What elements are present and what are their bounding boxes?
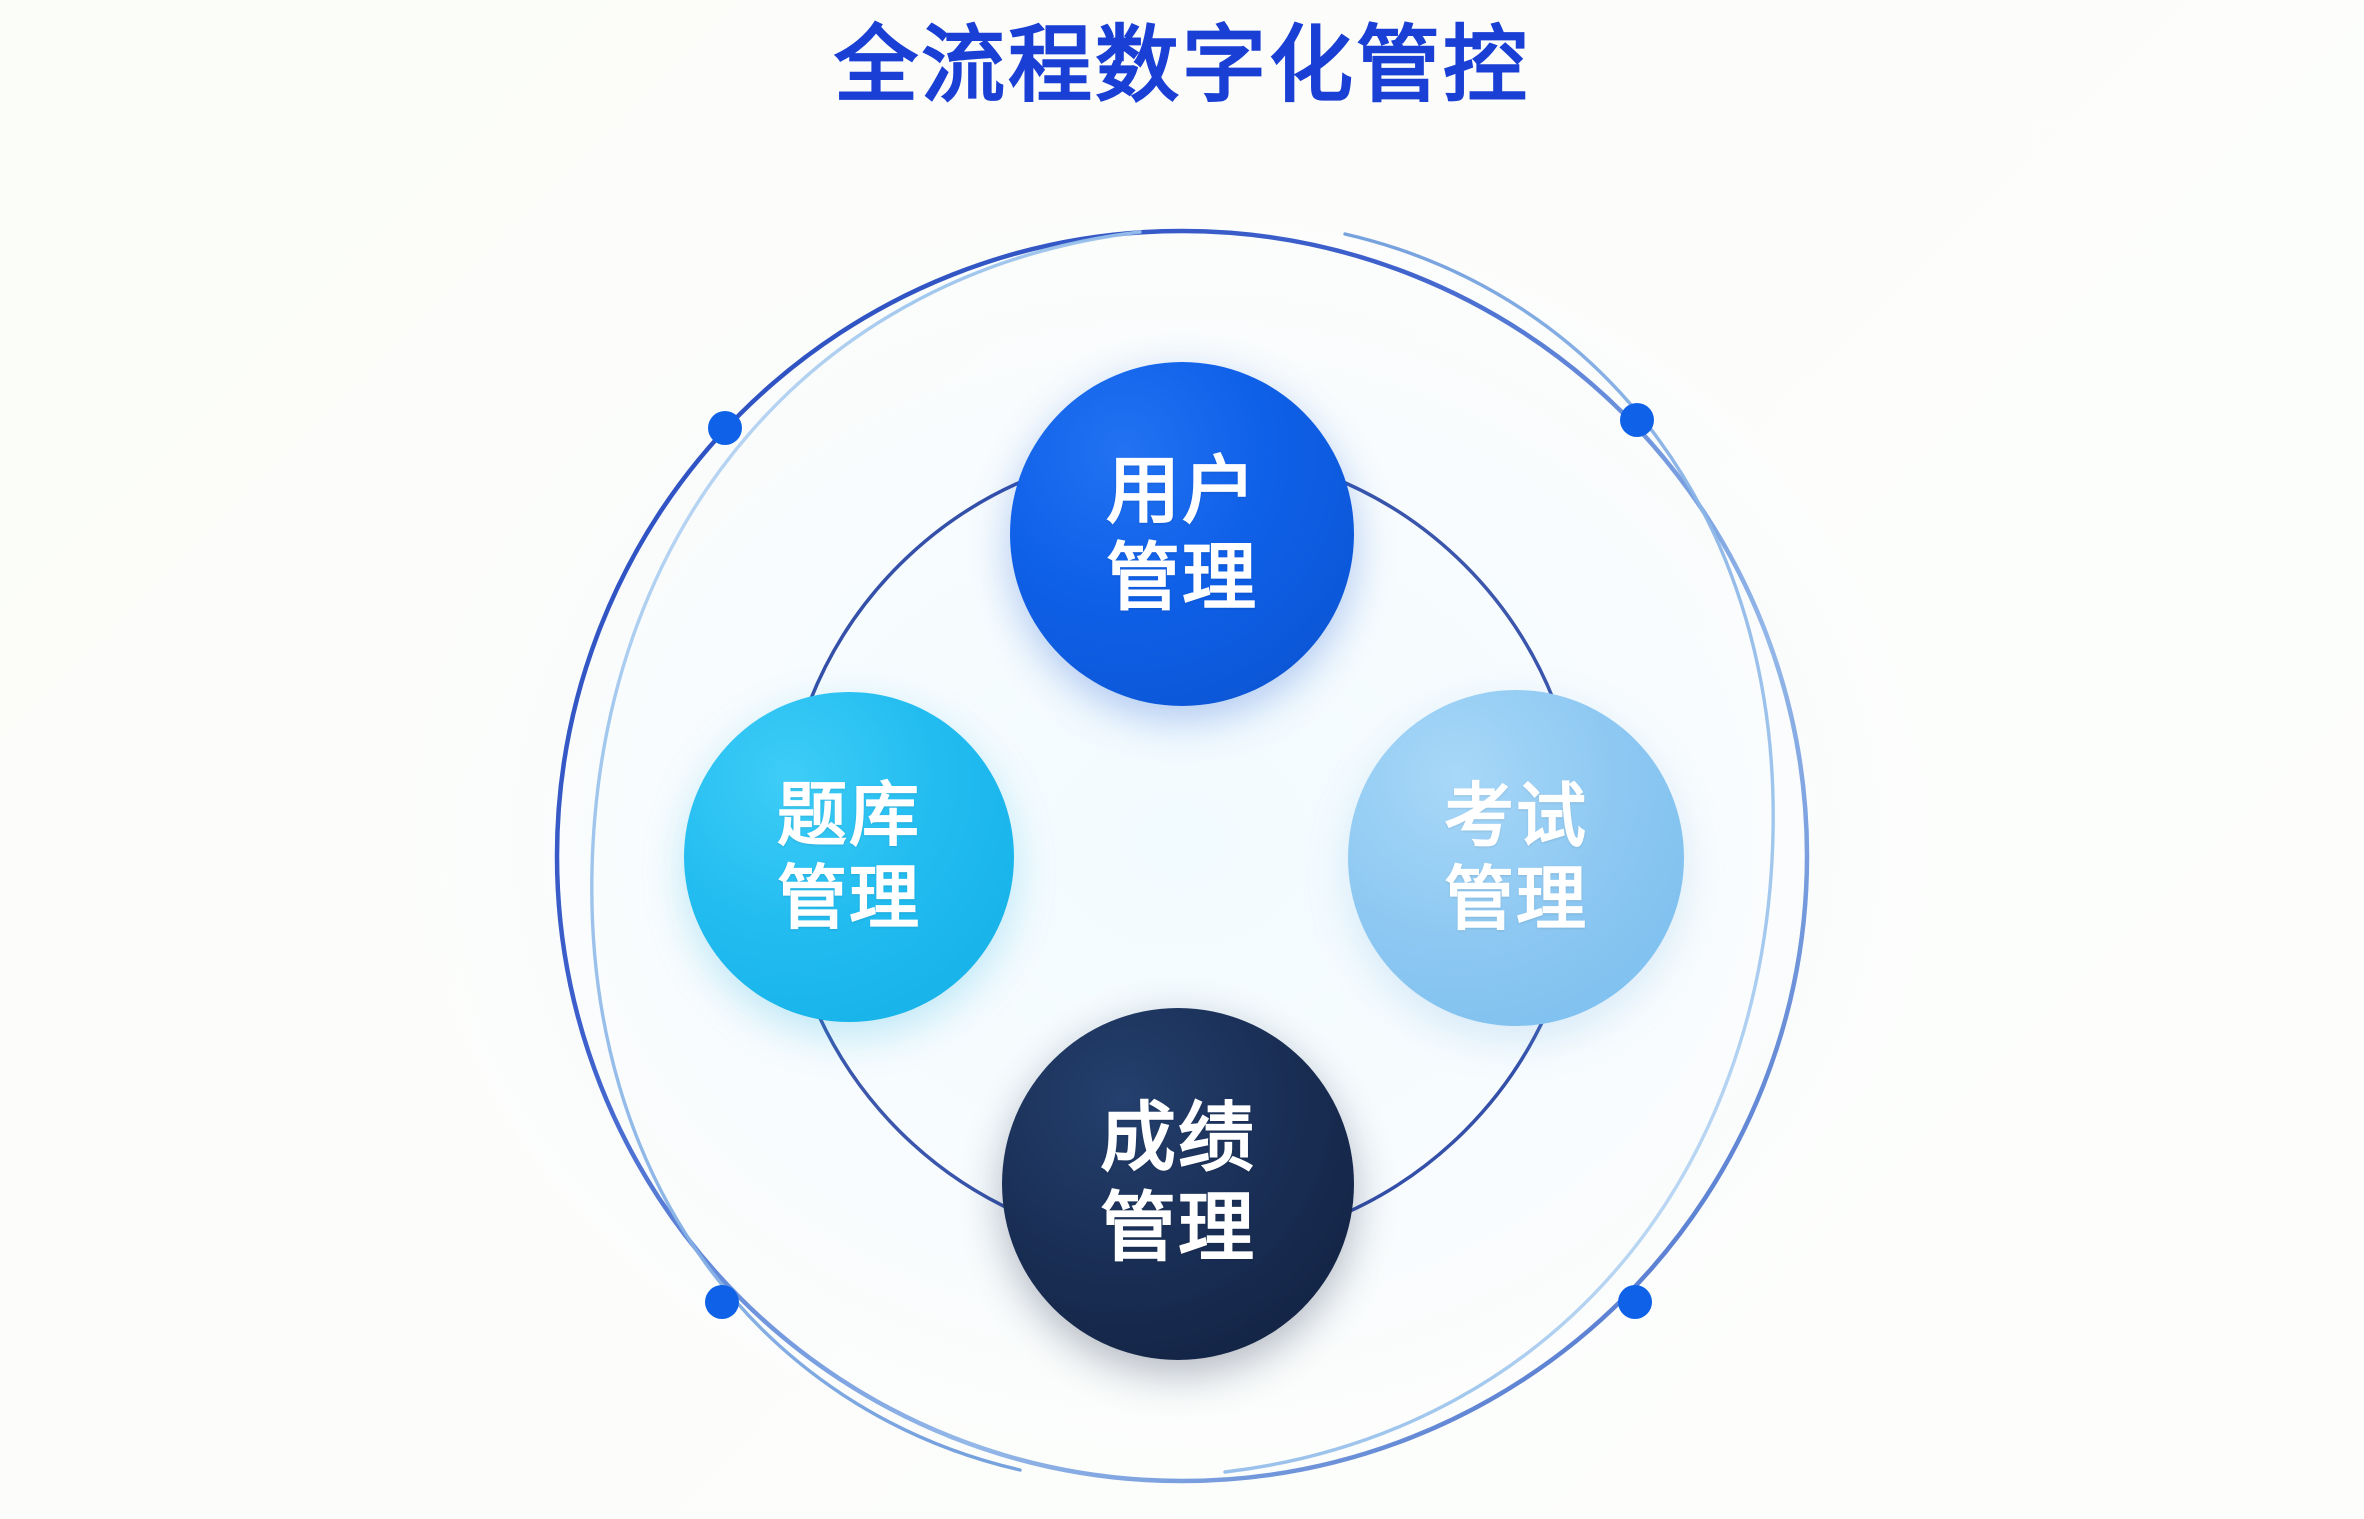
node-user-management-line1: 用户 <box>1106 447 1258 534</box>
orbit-dot-bottom-right <box>1618 1285 1652 1319</box>
node-user-management-line2: 管理 <box>1106 534 1258 621</box>
orbit-dot-bottom-left <box>705 1285 739 1319</box>
node-score-management-line1: 成绩 <box>1100 1094 1256 1184</box>
node-exam-management[interactable]: 考试 管理 <box>1348 690 1684 1026</box>
node-exam-management-line2: 管理 <box>1444 858 1588 941</box>
orbit-dot-top-right <box>1620 403 1654 437</box>
orbit-cycle-diagram: 用户 管理 题库 管理 考试 管理 成绩 管理 <box>0 0 2364 1519</box>
orbit-dot-top-left <box>708 411 742 445</box>
infographic-canvas: 全流程数字化管控 <box>0 0 2364 1519</box>
node-question-bank-management-line1: 题库 <box>777 774 921 857</box>
node-score-management-line2: 管理 <box>1100 1184 1256 1274</box>
node-user-management[interactable]: 用户 管理 <box>1010 362 1354 706</box>
node-question-bank-management[interactable]: 题库 管理 <box>684 692 1014 1022</box>
node-exam-management-line1: 考试 <box>1444 775 1588 858</box>
node-question-bank-management-line2: 管理 <box>777 857 921 940</box>
node-score-management[interactable]: 成绩 管理 <box>1002 1008 1354 1360</box>
